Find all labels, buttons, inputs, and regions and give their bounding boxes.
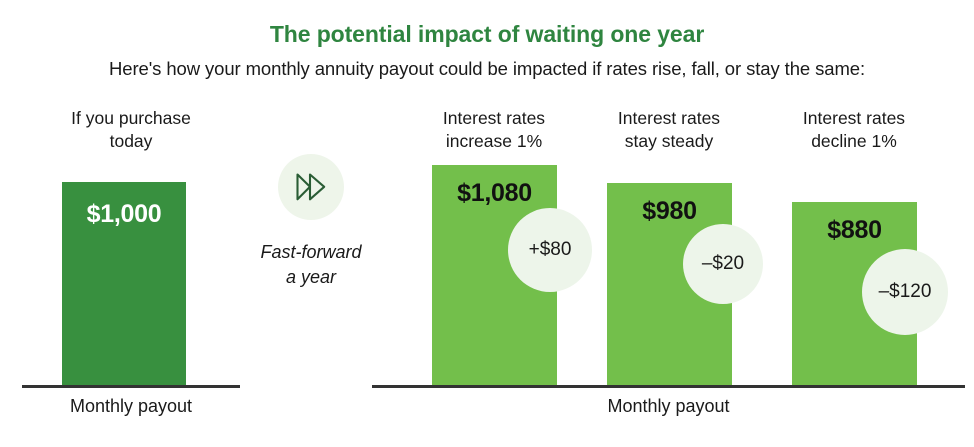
axis-baseline-left [22, 385, 240, 388]
column-header-steady: Interest rates stay steady [599, 107, 739, 153]
future-panel: Interest rates increase 1% $1,080 +$80 I… [362, 0, 974, 447]
bar-value-rates-increase: $1,080 [432, 179, 557, 208]
column-header-increase: Interest rates increase 1% [424, 107, 564, 153]
bar-value-today: $1,000 [62, 200, 186, 229]
axis-baseline-right [372, 385, 965, 388]
axis-caption-today: Monthly payout [22, 396, 240, 417]
today-panel: If you purchase today $1,000 Monthly pay… [0, 0, 262, 447]
bar-value-rates-decline: $880 [792, 216, 917, 245]
bar-value-rates-steady: $980 [607, 197, 732, 226]
column-header-today: If you purchase today [31, 107, 231, 153]
delta-badge-rates-decline: –$120 [862, 249, 948, 335]
fast-forward-icon [295, 172, 327, 202]
bar-today: $1,000 [62, 182, 186, 385]
column-header-decline: Interest rates decline 1% [784, 107, 924, 153]
axis-caption-future: Monthly payout [372, 396, 965, 417]
delta-badge-rates-increase: +$80 [508, 208, 592, 292]
fast-forward-badge [278, 154, 344, 220]
delta-badge-rates-steady: –$20 [683, 224, 763, 304]
